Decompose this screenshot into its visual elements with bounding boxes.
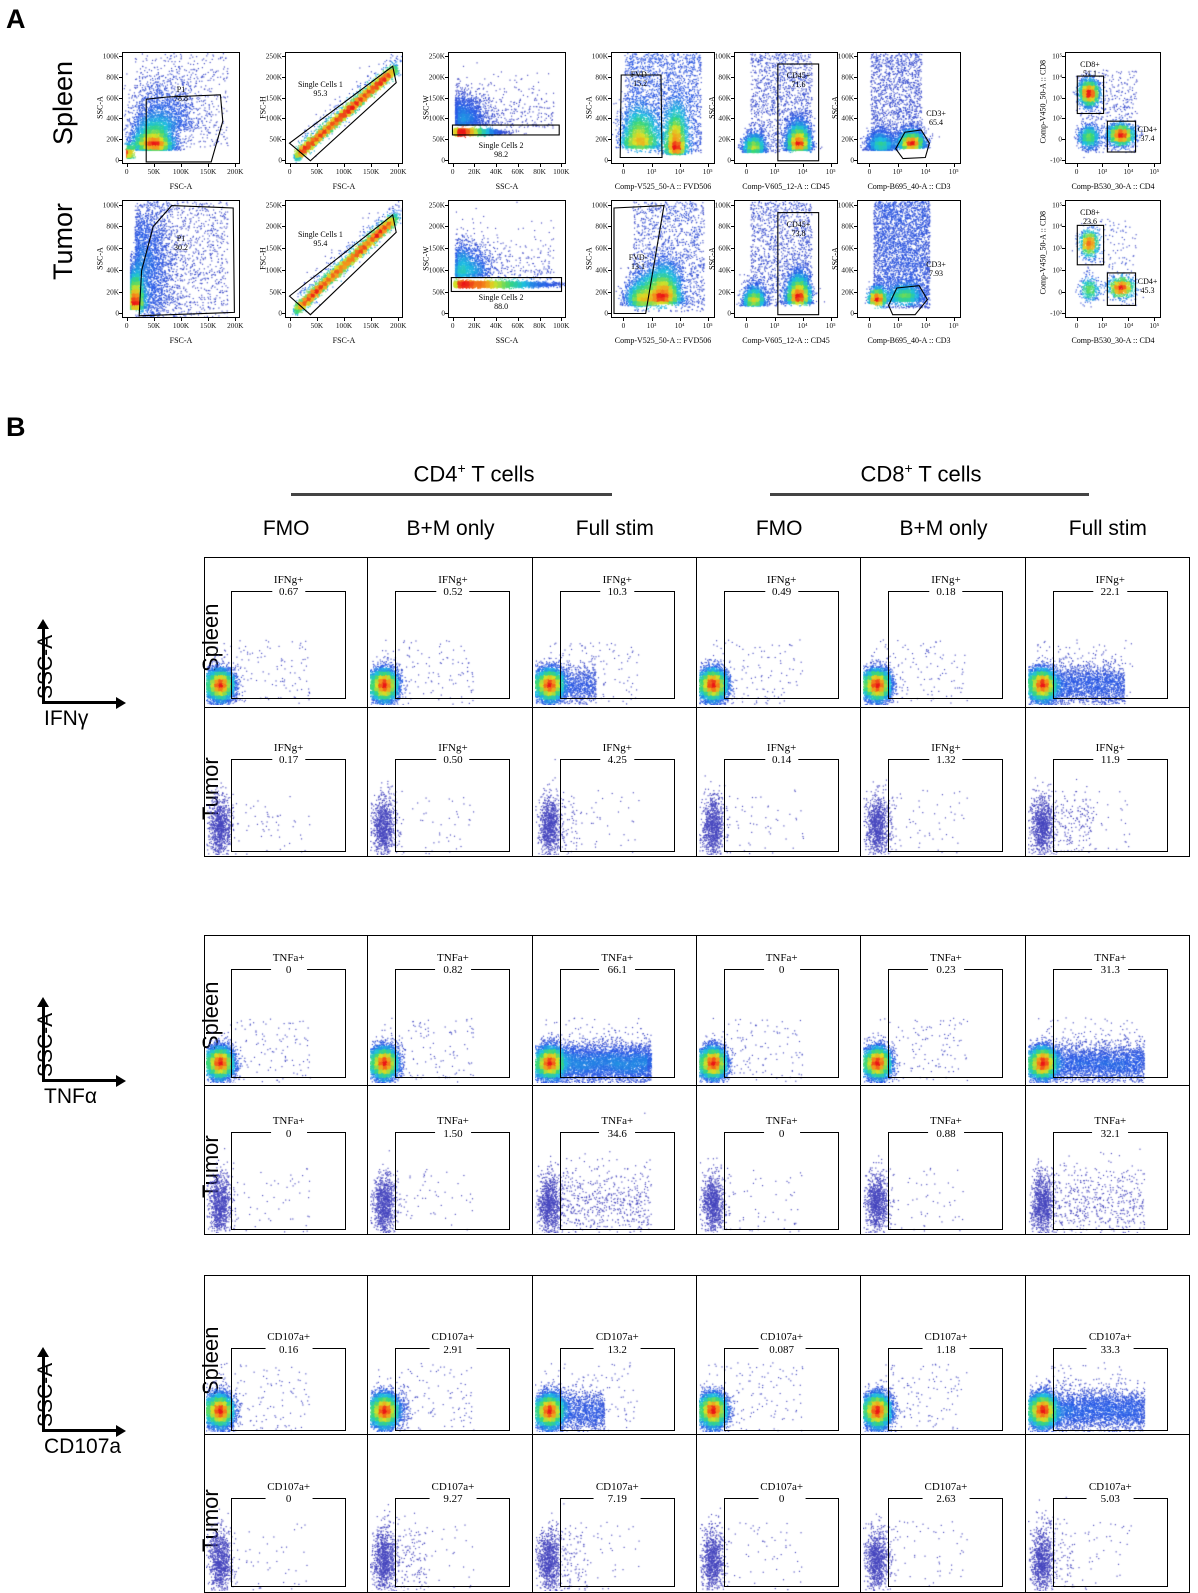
flow-cell-cd107a-tumor-2[interactable]: CD107a+7.19: [533, 1434, 697, 1593]
flow-plot-p1-tumor[interactable]: P130.2FSC-ASSC-A050K100K150K200K020K40K6…: [122, 200, 240, 318]
x-tick-label: 200K: [227, 321, 243, 330]
gate-label: TNFa+0: [764, 952, 800, 977]
x-tick: [398, 318, 399, 321]
y-tick: [1062, 56, 1065, 57]
y-tick: [1062, 205, 1065, 206]
gate-marker-name: IFNg+: [274, 742, 303, 755]
y-tick-label: 100K: [715, 52, 731, 61]
gate-label: CD107a+7.19: [594, 1481, 641, 1506]
gate-percent: 0.14: [767, 754, 796, 767]
gate-overlay: [123, 53, 239, 163]
x-tick: [371, 164, 372, 167]
y-tick: [119, 292, 122, 293]
gate-rectangle[interactable]: [231, 1132, 346, 1230]
x-tick: [708, 318, 709, 321]
gate-percent: 78.8: [174, 95, 188, 104]
flow-cell-tnfa-tumor-5[interactable]: TNFa+32.1: [1026, 1085, 1190, 1235]
y-axis-title: SSC-A: [585, 242, 594, 276]
x-tick-label: 100K: [336, 321, 352, 330]
flow-plot-fvd-tumor[interactable]: FVD-13.1Comp-V525_50-A :: FVD506SSC-A010…: [611, 200, 715, 318]
gate-marker-name: TNFa+: [1094, 1115, 1126, 1128]
flow-cell-cd107a-tumor-5[interactable]: CD107a+5.03: [1026, 1434, 1190, 1593]
flow-plot-cd3-spleen[interactable]: CD3+65.4Comp-B695_40-A :: CD3SSC-A010³10…: [857, 52, 961, 164]
x-tick: [831, 164, 832, 167]
x-tick-label: 200K: [390, 167, 406, 176]
x-tick: [1128, 318, 1129, 321]
gate-percent: 7.93: [926, 270, 946, 279]
gate-rectangle[interactable]: [724, 591, 839, 699]
gate-marker-name: CD107a+: [925, 1331, 968, 1344]
x-tick-label: 50K: [148, 321, 161, 330]
x-tick-label: 20K: [468, 321, 481, 330]
gate-label: TNFa+66.1: [599, 952, 635, 977]
gate-label-p1: P178.8: [174, 86, 188, 104]
x-tick-label: 0: [622, 167, 626, 176]
x-tick-label: 0: [1075, 167, 1079, 176]
x-tick: [317, 164, 318, 167]
flow-cell-ifng-tumor-1[interactable]: IFNg+0.50: [368, 707, 532, 857]
x-tick: [561, 164, 562, 167]
x-tick: [496, 164, 497, 167]
gate-rectangle[interactable]: [1053, 969, 1168, 1079]
group-title-cd4: CD4+ T cells: [413, 460, 534, 487]
gate-overlay: [612, 201, 714, 317]
y-tick: [608, 77, 611, 78]
gate-label: CD107a+0.087: [758, 1331, 805, 1356]
gate-rectangle[interactable]: [231, 969, 346, 1079]
x-axis-title: SSC-A: [496, 336, 519, 345]
gate-percent: 0: [273, 1128, 305, 1141]
y-tick: [731, 77, 734, 78]
gate-rectangle[interactable]: [395, 1348, 510, 1431]
y-tick: [119, 313, 122, 314]
y-tick: [282, 56, 285, 57]
group-rule-cd4: [291, 493, 612, 496]
flow-plot-cd4cd8-spleen[interactable]: CD8+51.1CD4+37.4Comp-B530_30-A :: CD4Com…: [1065, 52, 1161, 164]
y-tick: [1062, 139, 1065, 140]
column-title-3: FMO: [756, 517, 803, 541]
x-axis-label: IFNγ: [44, 707, 88, 731]
y-tick-label: 40K: [718, 265, 731, 274]
x-axis-title: Comp-V525_50-A :: FVD506: [615, 336, 711, 345]
y-tick: [282, 313, 285, 314]
x-tick-label: 10³: [770, 167, 780, 176]
flow-plot-cd45-spleen[interactable]: CD45+71.6Comp-V605_12-A :: CD45SSC-A010³…: [734, 52, 838, 164]
gate-percent: 34.6: [601, 1128, 633, 1141]
gate-percent: 10.3: [603, 586, 632, 599]
y-tick: [119, 139, 122, 140]
group-title-rest: T cells: [913, 461, 982, 486]
y-tick: [445, 205, 448, 206]
x-tick: [926, 318, 927, 321]
gate-marker-name: TNFa+: [601, 1115, 633, 1128]
flow-cell-ifng-tumor-5[interactable]: IFNg+11.9: [1026, 707, 1190, 857]
gate-rectangle[interactable]: [724, 1498, 839, 1587]
x-tick-label: 10⁴: [675, 167, 685, 176]
gate-rectangle[interactable]: [395, 591, 510, 699]
x-tick-label: 10⁴: [1123, 321, 1133, 330]
flow-cell-cd107a-tumor-4[interactable]: CD107a+2.63: [861, 1434, 1025, 1593]
gate-label: IFNg+1.32: [929, 742, 962, 767]
y-tick: [282, 98, 285, 99]
y-tick-label: 40K: [841, 114, 854, 123]
gate-rectangle[interactable]: [560, 759, 675, 852]
x-tick-label: 0: [451, 167, 455, 176]
gate-rectangle[interactable]: [395, 969, 510, 1079]
y-tick: [854, 118, 857, 119]
gate-rectangle[interactable]: [395, 1498, 510, 1587]
flow-cell-tnfa-spleen-0[interactable]: TNFa+0: [204, 935, 368, 1085]
gate-percent: 0.88: [930, 1128, 962, 1141]
gate-marker-name: TNFa+: [437, 952, 469, 965]
gate-label: CD107a+2.63: [923, 1481, 970, 1506]
flow-cell-tnfa-spleen-1[interactable]: TNFa+0.82: [368, 935, 532, 1085]
gate-label-singlecells2: Single Cells 288.0: [479, 294, 524, 312]
flow-cell-tnfa-spleen-4[interactable]: TNFa+0.23: [861, 935, 1025, 1085]
gate-label: TNFa+1.50: [435, 1115, 471, 1140]
panel-a: SpleenTumorP178.8FSC-ASSC-A050K100K150K2…: [0, 0, 1198, 370]
flow-cell-tnfa-tumor-0[interactable]: TNFa+0: [204, 1085, 368, 1235]
y-tick: [731, 98, 734, 99]
y-tick-label: 100K: [838, 200, 854, 209]
group-rule-cd8: [770, 493, 1089, 496]
group-title-marker: CD4: [413, 461, 457, 486]
y-tick-label: 100K: [429, 265, 445, 274]
y-tick-label: 50K: [432, 287, 445, 296]
y-tick: [119, 118, 122, 119]
flow-plot-singlets2-spleen[interactable]: Single Cells 298.2SSC-ASSC-W020K40K60K80…: [448, 52, 566, 164]
y-tick-label: 60K: [841, 93, 854, 102]
x-tick-label: 0: [868, 321, 872, 330]
y-tick: [119, 270, 122, 271]
x-tick: [518, 164, 519, 167]
x-axis-title: Comp-B530_30-A :: CD4: [1071, 182, 1154, 191]
flow-cell-tnfa-spleen-3[interactable]: TNFa+0: [697, 935, 861, 1085]
gate-marker-name: TNFa+: [601, 952, 633, 965]
flow-cell-ifng-tumor-0[interactable]: IFNg+0.17: [204, 707, 368, 857]
gate-marker-name: CD107a+: [596, 1481, 639, 1494]
flow-cell-cd107a-spleen-2[interactable]: CD107a+13.2: [533, 1275, 697, 1434]
flow-cell-ifng-spleen-5[interactable]: IFNg+22.1: [1026, 557, 1190, 707]
gate-rectangle[interactable]: [231, 591, 346, 699]
gate-percent: 65.4: [926, 119, 946, 128]
flow-cell-cd107a-spleen-5[interactable]: CD107a+33.3: [1026, 1275, 1190, 1434]
x-tick-label: 10³: [647, 167, 657, 176]
gate-rectangle[interactable]: [1053, 1132, 1168, 1230]
gate-overlay: [286, 201, 402, 317]
x-tick: [746, 164, 747, 167]
gate-rectangle[interactable]: [560, 1348, 675, 1431]
y-tick: [608, 270, 611, 271]
flow-cell-ifng-spleen-3[interactable]: IFNg+0.49: [697, 557, 861, 707]
flow-plot-cd3-tumor[interactable]: CD3+7.93Comp-B695_40-A :: CD3SSC-A010³10…: [857, 200, 961, 318]
y-tick: [445, 98, 448, 99]
y-tick-label: 50K: [269, 134, 282, 143]
gate-percent: 0.67: [274, 586, 303, 599]
gate-marker-name: TNFa+: [273, 952, 305, 965]
x-tick: [1102, 164, 1103, 167]
gate-percent: 66.1: [601, 964, 633, 977]
y-tick: [119, 248, 122, 249]
y-tick: [445, 56, 448, 57]
flow-plot-singlets1-spleen[interactable]: Single Cells 195.3FSC-AFSC-H050K100K150K…: [285, 52, 403, 164]
y-axis-title: SSC-A: [831, 91, 840, 125]
x-tick: [127, 318, 128, 321]
flow-cell-tnfa-tumor-1[interactable]: TNFa+1.50: [368, 1085, 532, 1235]
flow-cell-ifng-tumor-3[interactable]: IFNg+0.14: [697, 707, 861, 857]
gate-overlay: [286, 53, 402, 163]
gate-rectangle[interactable]: [724, 1348, 839, 1431]
x-tick: [1128, 164, 1129, 167]
flow-cell-tnfa-tumor-3[interactable]: TNFa+0: [697, 1085, 861, 1235]
flow-cell-ifng-spleen-4[interactable]: IFNg+0.18: [861, 557, 1025, 707]
y-tick: [119, 160, 122, 161]
y-tick-label: 60K: [595, 244, 608, 253]
x-axis-title: Comp-V605_12-A :: CD45: [742, 336, 830, 345]
flow-cell-ifng-tumor-4[interactable]: IFNg+1.32: [861, 707, 1025, 857]
y-tick-label: -10²: [1050, 309, 1062, 318]
x-tick: [453, 164, 454, 167]
gate-rectangle[interactable]: [395, 1132, 510, 1230]
y-tick-label: 20K: [718, 134, 731, 143]
group-title-superscript: +: [457, 460, 465, 476]
gate-percent: 5.03: [1089, 1493, 1132, 1506]
gate-label: IFNg+0.49: [765, 574, 798, 599]
plot-frame: [857, 52, 961, 164]
gate-rectangle[interactable]: [724, 759, 839, 852]
x-tick: [154, 164, 155, 167]
gate-label: TNFa+0.82: [435, 952, 471, 977]
gate-label: IFNg+0.67: [272, 574, 305, 599]
x-axis-line: [42, 1079, 118, 1082]
gate-marker-name: IFNg+: [931, 574, 960, 587]
gate-percent: 11.9: [1096, 754, 1125, 767]
y-tick: [1062, 160, 1065, 161]
y-tick: [282, 118, 285, 119]
y-tick: [854, 313, 857, 314]
gate-label-p1: P130.2: [174, 235, 188, 253]
y-tick: [854, 205, 857, 206]
gate-rectangle[interactable]: [888, 1348, 1003, 1431]
gate-rectangle[interactable]: [560, 1498, 675, 1587]
y-tick-label: 100K: [266, 265, 282, 274]
gate-rectangle[interactable]: [1053, 759, 1168, 852]
gate-rectangle[interactable]: [395, 759, 510, 852]
gate-percent: 0.087: [760, 1344, 803, 1357]
y-tick-label: 10²: [1053, 114, 1063, 123]
gate-marker-name: IFNg+: [767, 742, 796, 755]
gate-label: CD107a+9.27: [430, 1481, 477, 1506]
gate-label-fvd: FVD-15.2: [631, 71, 650, 89]
y-tick: [731, 160, 734, 161]
flow-plot-singlets1-tumor[interactable]: Single Cells 195.4FSC-AFSC-H050K100K150K…: [285, 200, 403, 318]
flow-cell-cd107a-spleen-1[interactable]: CD107a+2.91: [368, 1275, 532, 1434]
x-tick-label: 150K: [363, 321, 379, 330]
flow-plot-fvd-spleen[interactable]: FVD-15.2Comp-V525_50-A :: FVD506SSC-A010…: [611, 52, 715, 164]
flow-cell-ifng-spleen-2[interactable]: IFNg+10.3: [533, 557, 697, 707]
gate-marker-name: IFNg+: [603, 742, 632, 755]
y-tick: [731, 313, 734, 314]
y-tick-label: 100K: [103, 52, 119, 61]
flow-cell-cd107a-tumor-3[interactable]: CD107a+0: [697, 1434, 861, 1593]
flow-cell-cd107a-spleen-3[interactable]: CD107a+0.087: [697, 1275, 861, 1434]
y-tick: [445, 77, 448, 78]
y-tick-label: 80K: [106, 73, 119, 82]
gate-rectangle[interactable]: [888, 1132, 1003, 1230]
x-tick: [181, 318, 182, 321]
gate-percent: 0: [760, 1493, 803, 1506]
y-tick: [282, 139, 285, 140]
x-axis-title: Comp-V525_50-A :: FVD506: [615, 182, 711, 191]
gate-percent: 0: [267, 1493, 310, 1506]
x-tick: [954, 164, 955, 167]
gate-rectangle[interactable]: [1053, 1348, 1168, 1431]
y-tick: [608, 160, 611, 161]
y-tick-label: 20K: [718, 287, 731, 296]
flow-cell-ifng-spleen-0[interactable]: IFNg+0.67: [204, 557, 368, 707]
y-tick-label: 20K: [841, 287, 854, 296]
axis-diagram-ifng: SSC-AIFNγ: [10, 617, 160, 727]
gate-marker-name: IFNg+: [438, 574, 467, 587]
gate-overlay: [735, 53, 837, 163]
gate-marker-name: CD107a+: [267, 1481, 310, 1494]
x-tick-label: 40K: [490, 167, 503, 176]
gate-marker-name: CD107a+: [1089, 1331, 1132, 1344]
gate-rectangle[interactable]: [231, 1348, 346, 1431]
x-tick-label: 80K: [533, 167, 546, 176]
gate-rectangle[interactable]: [724, 1132, 839, 1230]
gate-rectangle[interactable]: [231, 1498, 346, 1587]
flow-cell-tnfa-tumor-2[interactable]: TNFa+34.6: [533, 1085, 697, 1235]
y-tick: [445, 248, 448, 249]
flow-plot-cd45-tumor[interactable]: CD45+73.8Comp-V605_12-A :: CD45SSC-A010³…: [734, 200, 838, 318]
x-tick: [926, 164, 927, 167]
y-tick-label: 20K: [595, 287, 608, 296]
x-axis-arrow-icon: [116, 697, 126, 709]
gate-percent: 2.91: [432, 1344, 475, 1357]
gate-marker-name: TNFa+: [930, 1115, 962, 1128]
x-tick: [898, 164, 899, 167]
y-tick-label: 80K: [595, 73, 608, 82]
x-tick-label: 10³: [1098, 167, 1108, 176]
y-tick-label: 60K: [595, 93, 608, 102]
gate-rectangle[interactable]: [560, 1132, 675, 1230]
x-tick-label: 10⁴: [798, 167, 808, 176]
gate-label: TNFa+0: [764, 1115, 800, 1140]
gate-label: IFNg+0.52: [436, 574, 469, 599]
flow-cell-tnfa-spleen-2[interactable]: TNFa+66.1: [533, 935, 697, 1085]
y-tick: [608, 313, 611, 314]
flow-cell-ifng-spleen-1[interactable]: IFNg+0.52: [368, 557, 532, 707]
flow-plot-cd4cd8-tumor[interactable]: CD8+23.6CD4+45.3Comp-B530_30-A :: CD4Com…: [1065, 200, 1161, 318]
x-tick-label: 0: [288, 167, 292, 176]
flow-cell-ifng-tumor-2[interactable]: IFNg+4.25: [533, 707, 697, 857]
flow-cell-cd107a-tumor-1[interactable]: CD107a+9.27: [368, 1434, 532, 1593]
gate-label: IFNg+0.50: [436, 742, 469, 767]
y-tick: [854, 292, 857, 293]
flow-cell-cd107a-spleen-4[interactable]: CD107a+1.18: [861, 1275, 1025, 1434]
y-tick: [445, 160, 448, 161]
plot-frame: [611, 200, 715, 318]
y-tick-label: 100K: [103, 200, 119, 209]
gate-rectangle[interactable]: [231, 759, 346, 852]
gate-label-singlecells1: Single Cells 195.3: [298, 81, 343, 99]
gate-percent: 7.19: [596, 1493, 639, 1506]
gate-rectangle[interactable]: [724, 969, 839, 1079]
x-tick-label: 0: [868, 167, 872, 176]
x-tick-label: 200K: [390, 321, 406, 330]
y-tick: [731, 56, 734, 57]
y-tick-label: 80K: [841, 222, 854, 231]
gate-percent: 0.18: [931, 586, 960, 599]
gate-rectangle[interactable]: [560, 969, 675, 1079]
x-axis-title: Comp-V605_12-A :: CD45: [742, 182, 830, 191]
gate-marker-name: CD107a+: [596, 1331, 639, 1344]
flow-plot-p1-spleen[interactable]: P178.8FSC-ASSC-A050K100K150K200K020K40K6…: [122, 52, 240, 164]
gate-label: IFNg+10.3: [601, 574, 634, 599]
gate-rectangle[interactable]: [888, 591, 1003, 699]
x-tick: [518, 318, 519, 321]
gate-percent: 13.1: [629, 263, 648, 272]
flow-cell-cd107a-spleen-0[interactable]: CD107a+0.16: [204, 1275, 368, 1434]
y-tick: [282, 226, 285, 227]
plot-frame: [734, 52, 838, 164]
x-tick: [623, 164, 624, 167]
gate-label: CD107a+5.03: [1087, 1481, 1134, 1506]
gate-rectangle[interactable]: [1053, 591, 1168, 699]
y-tick-label: 80K: [106, 222, 119, 231]
gate-percent: 0: [766, 1128, 798, 1141]
x-tick: [869, 164, 870, 167]
gate-percent: 22.1: [1096, 586, 1125, 599]
x-tick: [775, 164, 776, 167]
x-tick-label: 0: [125, 167, 129, 176]
x-tick-label: 10⁵: [1149, 321, 1159, 330]
y-tick-label: 10⁴: [1052, 73, 1062, 82]
gate-marker-name: IFNg+: [1096, 574, 1125, 587]
gate-rectangle[interactable]: [888, 759, 1003, 852]
flow-cell-tnfa-tumor-4[interactable]: TNFa+0.88: [861, 1085, 1025, 1235]
gate-rectangle[interactable]: [888, 1498, 1003, 1587]
x-tick: [474, 318, 475, 321]
flow-plot-singlets2-tumor[interactable]: Single Cells 288.0SSC-ASSC-W020K40K60K80…: [448, 200, 566, 318]
gate-marker-name: TNFa+: [930, 952, 962, 965]
x-tick-label: 10³: [770, 321, 780, 330]
y-tick-label: 100K: [592, 200, 608, 209]
group-title-cd8: CD8+ T cells: [860, 460, 981, 487]
y-tick-label: 80K: [718, 73, 731, 82]
flow-cell-cd107a-tumor-0[interactable]: CD107a+0: [204, 1434, 368, 1593]
y-axis-title: SSC-A: [96, 91, 105, 125]
gate-percent: 0: [273, 964, 305, 977]
x-tick: [1077, 318, 1078, 321]
gate-rectangle[interactable]: [1053, 1498, 1168, 1587]
gate-label: CD107a+1.18: [923, 1331, 970, 1356]
x-axis-title: Comp-B695_40-A :: CD3: [867, 182, 950, 191]
x-tick-label: 10⁴: [798, 321, 808, 330]
gate-rectangle[interactable]: [888, 969, 1003, 1079]
x-tick-label: 0: [288, 321, 292, 330]
gate-rectangle[interactable]: [560, 591, 675, 699]
gate-marker-name: CD107a+: [267, 1331, 310, 1344]
y-tick: [1062, 292, 1065, 293]
x-tick-label: 100K: [336, 167, 352, 176]
gate-label-fvd: FVD-13.1: [629, 254, 648, 272]
y-tick-label: 80K: [841, 73, 854, 82]
gate-marker-name: IFNg+: [1096, 742, 1125, 755]
group-title-rest: T cells: [466, 461, 535, 486]
flow-cell-tnfa-spleen-5[interactable]: TNFa+31.3: [1026, 935, 1190, 1085]
